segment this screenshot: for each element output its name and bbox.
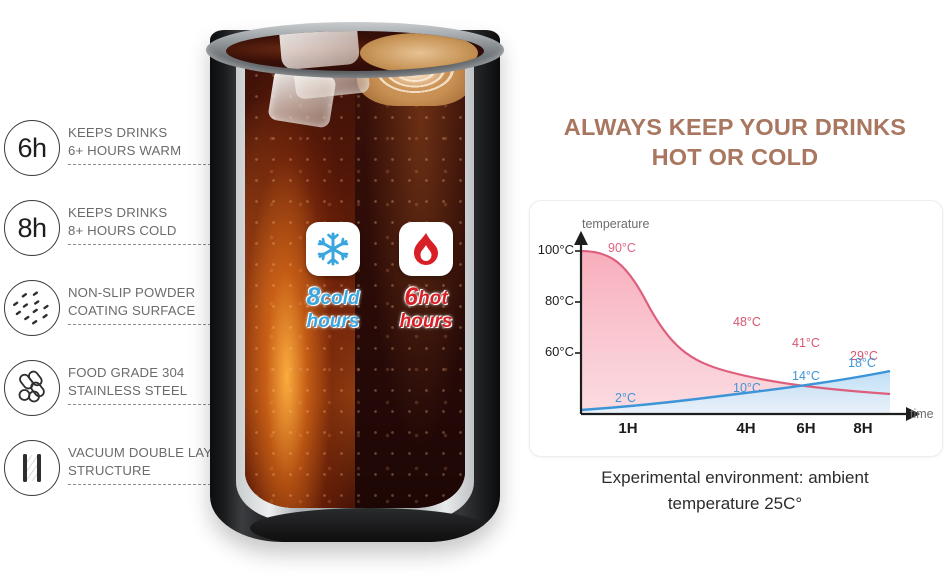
headline: ALWAYS KEEP YOUR DRINKS HOT OR COLD xyxy=(520,112,950,172)
hot-hours-word: hot xyxy=(418,288,448,309)
hot-hours-line2: hours xyxy=(383,311,469,333)
cup-rim-interior xyxy=(226,31,484,71)
cold-hours-word: cold xyxy=(320,288,359,309)
chart-caption-line-1: Experimental environment: ambient xyxy=(520,465,950,491)
temperature-chart-card: temperature time 100°C 80°C 60°C 1H 4H 6… xyxy=(529,200,943,457)
temperature-chart xyxy=(530,201,942,456)
chart-caption-line-2: temperature 25C° xyxy=(520,491,950,517)
hot-hours-badge: 6hot hours xyxy=(383,222,469,333)
flame-icon xyxy=(399,222,453,276)
cup-rim xyxy=(206,22,504,78)
8h-badge-icon: 8h xyxy=(4,200,60,256)
chart-caption: Experimental environment: ambient temper… xyxy=(520,465,950,517)
6h-badge-label: 6h xyxy=(17,135,46,162)
headline-line-2: HOT OR COLD xyxy=(520,142,950,172)
cold-hours-number: 8 xyxy=(307,283,321,311)
hot-hours-number: 6 xyxy=(404,283,418,311)
6h-badge-icon: 6h xyxy=(4,120,60,176)
cold-hours-caption: 8cold hours xyxy=(290,286,376,333)
snowflake-icon xyxy=(306,222,360,276)
right-panel: ALWAYS KEEP YOUR DRINKS HOT OR COLD xyxy=(520,0,950,588)
cold-hours-badge: 8cold hours xyxy=(290,222,376,333)
stainless-steel-tubes-icon xyxy=(4,360,60,416)
cup-base xyxy=(250,508,488,542)
8h-badge-label: 8h xyxy=(17,215,46,242)
hot-hours-caption: 6hot hours xyxy=(383,286,469,333)
ice-cube-icon xyxy=(278,31,360,70)
non-slip-texture-icon xyxy=(4,280,60,336)
headline-line-1: ALWAYS KEEP YOUR DRINKS xyxy=(520,112,950,142)
double-wall-layers-icon xyxy=(4,440,60,496)
cold-hours-line2: hours xyxy=(290,311,376,333)
latte-surface xyxy=(360,33,478,71)
